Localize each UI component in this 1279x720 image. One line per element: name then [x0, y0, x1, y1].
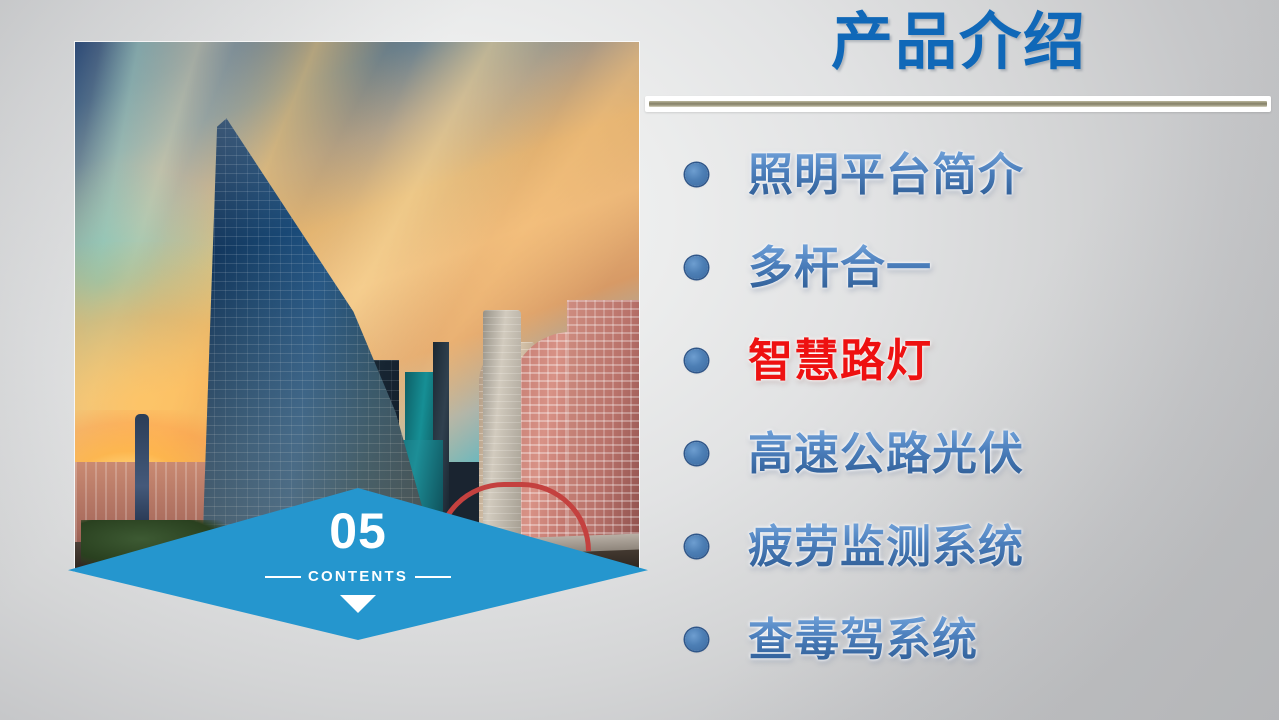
contents-list: 照明平台简介 多杆合一 智慧路灯 高速公路光伏 疲劳监测系统 — [645, 128, 1279, 686]
list-item[interactable]: 疲劳监测系统 — [645, 500, 1279, 593]
page-title: 产品介绍 — [645, 6, 1273, 79]
list-item[interactable]: 照明平台简介 — [645, 128, 1279, 221]
list-item-label: 照明平台简介 — [748, 151, 1024, 198]
list-item-active[interactable]: 智慧路灯 — [645, 314, 1279, 407]
title-divider — [645, 96, 1271, 112]
bullet-cell — [645, 442, 748, 465]
list-item-label: 查毒驾系统 — [748, 616, 978, 663]
bullet-cell — [645, 628, 748, 651]
list-item-label: 多杆合一 — [748, 244, 932, 291]
list-item-label: 智慧路灯 — [748, 337, 932, 384]
presentation-slide: 05 CONTENTS 产品介绍 照明平台简介 多杆合一 智慧路灯 — [0, 0, 1279, 720]
bullet-dot-icon — [685, 628, 708, 651]
bullet-dot-icon — [685, 163, 708, 186]
bullet-cell — [645, 256, 748, 279]
bullet-cell — [645, 349, 748, 372]
list-item[interactable]: 多杆合一 — [645, 221, 1279, 314]
bullet-dot-icon — [685, 442, 708, 465]
list-item[interactable]: 高速公路光伏 — [645, 407, 1279, 500]
list-item[interactable]: 查毒驾系统 — [645, 593, 1279, 686]
bullet-dot-icon — [685, 535, 708, 558]
bullet-cell — [645, 163, 748, 186]
bullet-dot-icon — [685, 349, 708, 372]
slim-spire-tower — [135, 414, 149, 534]
bullet-cell — [645, 535, 748, 558]
list-item-label: 高速公路光伏 — [748, 430, 1024, 477]
list-item-label: 疲劳监测系统 — [748, 523, 1024, 570]
bullet-dot-icon — [685, 256, 708, 279]
